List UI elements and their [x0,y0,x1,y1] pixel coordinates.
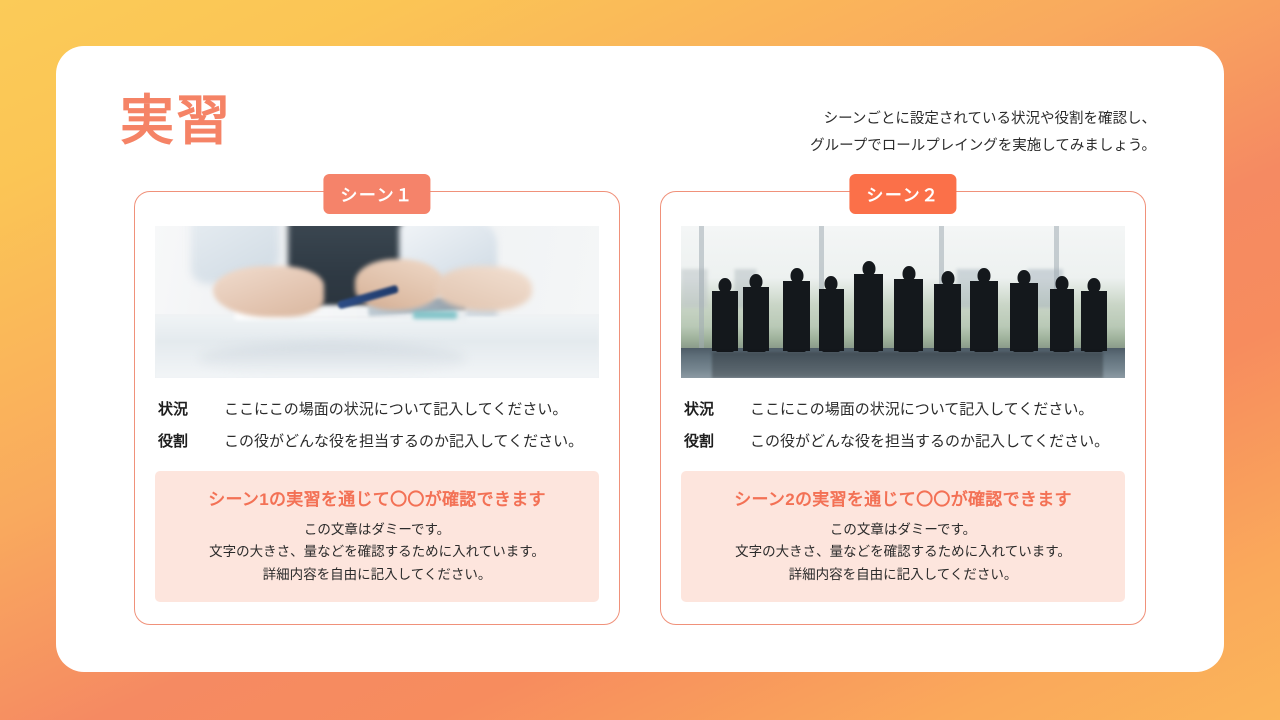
page-title: 実習 [120,94,232,148]
scene-card-list: シーン１ [134,191,1146,625]
scene-detail-rows-2: 状況 ここにこの場面の状況について記入してください。 役割 この役がどんな役を担… [681,398,1125,451]
slide: 実習 シーンごとに設定されている状況や役割を確認し、 グループでロールプレイング… [0,0,1280,720]
photo-silhouette [1050,289,1074,351]
detail-value-role: この役がどんな役を担当するのか記入してください。 [750,430,1109,451]
photo-reflection [199,342,465,375]
content-panel: 実習 シーンごとに設定されている状況や役割を確認し、 グループでロールプレイング… [56,46,1224,672]
summary-title: シーン1の実習を通じて〇〇が確認できます [165,485,589,510]
detail-label-situation: 状況 [684,398,750,419]
photo-hand-center [355,259,444,309]
scene-image-1 [155,226,599,378]
photo-floor-reflection [712,352,1103,378]
detail-value-situation: ここにこの場面の状況について記入してください。 [750,398,1093,419]
photo-teal-accent [413,311,457,319]
summary-line-3: 詳細内容を自由に記入してください。 [691,564,1115,586]
detail-value-situation: ここにこの場面の状況について記入してください。 [224,398,567,419]
photo-silhouette [712,291,738,351]
summary-line-2: 文字の大きさ、量などを確認するために入れています。 [691,541,1115,563]
detail-row-situation: 状況 ここにこの場面の状況について記入してください。 [158,398,596,419]
intro-line-1: シーンごとに設定されている状況や役割を確認し、 [810,106,1156,133]
summary-line-1: この文章はダミーです。 [691,519,1115,541]
photo-silhouette [819,289,844,351]
photo-window-mullion [699,226,704,351]
scene-badge-2: シーン２ [849,174,956,214]
photo-silhouette [934,284,961,351]
scene-image-2 [681,226,1125,378]
detail-label-situation: 状況 [158,398,224,419]
summary-line-1: この文章はダミーです。 [165,519,589,541]
detail-row-role: 役割 この役がどんな役を担当するのか記入してください。 [158,430,596,451]
intro-text: シーンごとに設定されている状況や役割を確認し、 グループでロールプレイングを実施… [810,106,1156,160]
scene-summary-1: シーン1の実習を通じて〇〇が確認できます この文章はダミーです。 文字の大きさ、… [155,471,599,602]
photo-silhouette [894,279,923,351]
photo-silhouette [1010,283,1038,351]
scene-badge-1: シーン１ [323,174,430,214]
detail-label-role: 役割 [684,430,750,451]
scene-card-2[interactable]: シーン２ [660,191,1146,625]
photo-silhouette [854,274,883,351]
detail-label-role: 役割 [158,430,224,451]
photo-silhouette [743,287,769,351]
scene-card-1[interactable]: シーン１ [134,191,620,625]
intro-line-2: グループでロールプレイングを実施してみましょう。 [810,133,1156,160]
photo-silhouette [783,281,810,351]
scene-detail-rows-1: 状況 ここにこの場面の状況について記入してください。 役割 この役がどんな役を担… [155,398,599,451]
summary-line-2: 文字の大きさ、量などを確認するために入れています。 [165,541,589,563]
detail-row-situation: 状況 ここにこの場面の状況について記入してください。 [684,398,1122,419]
detail-value-role: この役がどんな役を担当するのか記入してください。 [224,430,583,451]
scene-summary-2: シーン2の実習を通じて〇〇が確認できます この文章はダミーです。 文字の大きさ、… [681,471,1125,602]
photo-hand-left [213,266,324,318]
photo-silhouette [970,281,998,351]
summary-line-3: 詳細内容を自由に記入してください。 [165,564,589,586]
summary-title: シーン2の実習を通じて〇〇が確認できます [691,485,1115,510]
detail-row-role: 役割 この役がどんな役を担当するのか記入してください。 [684,430,1122,451]
photo-hand-right [435,266,533,312]
photo-silhouette [1081,291,1107,351]
